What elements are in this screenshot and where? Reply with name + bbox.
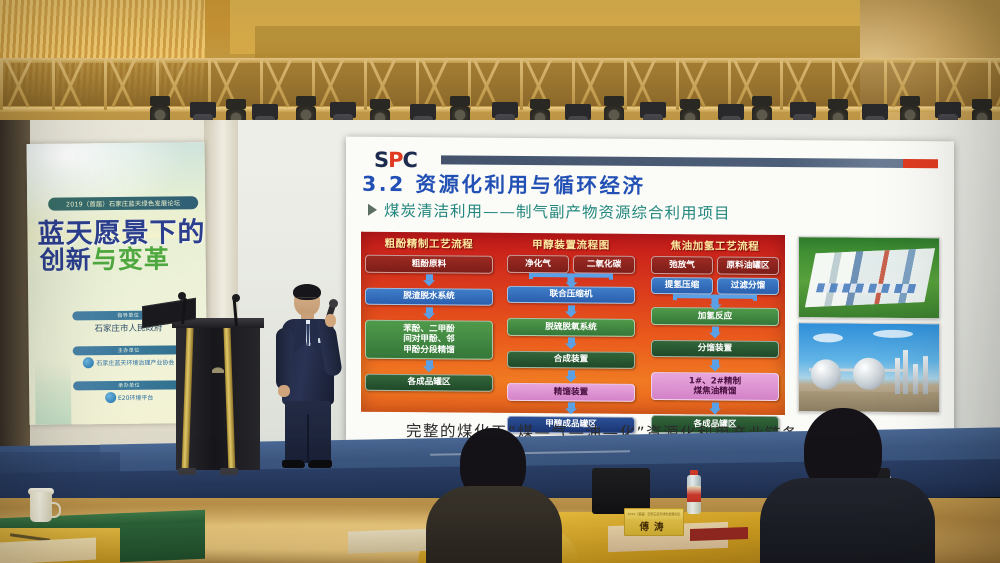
banner-title-line2: 创新与变革 bbox=[40, 239, 208, 277]
flow-arrow-icon bbox=[423, 360, 436, 372]
flow-arrow-icon bbox=[565, 305, 578, 317]
banner-title-line2-b: 与变革 bbox=[92, 244, 170, 274]
banner-org-1-role: 主办单位 bbox=[118, 347, 140, 354]
e20-logo-icon bbox=[105, 392, 116, 403]
aerial-plant-photo bbox=[798, 236, 940, 319]
tea-cup bbox=[30, 492, 56, 526]
mic-stand-base-right bbox=[220, 468, 238, 475]
flow-1-node-2: 合成装置 bbox=[507, 350, 635, 369]
flow-2-pair2-1: 过滤分馏 bbox=[717, 277, 779, 295]
flow-arrow-icon bbox=[565, 337, 578, 349]
banner-org-2-name: E20环境平台 bbox=[118, 393, 154, 402]
conference-photo-scene: /*truss members drawn below*/ 2019（首届）石家… bbox=[0, 0, 1000, 563]
flow-1-pair-1: 二氧化碳 bbox=[573, 255, 635, 273]
red-folder bbox=[690, 527, 748, 541]
flowchart-panel: 粗酚精制工艺流程粗酚原料脱渣脱水系统苯酚、二甲酚间对甲酚、邻甲酚分段精馏各成品罐… bbox=[361, 232, 785, 415]
banner-title-line2-a: 创新 bbox=[40, 245, 92, 275]
flow-arrow-icon bbox=[565, 402, 578, 414]
flow-1-node-1: 脱硫脱氧系统 bbox=[507, 318, 635, 337]
slide-title: 3.2 资源化利用与循环经济 bbox=[362, 167, 645, 199]
flowchart-1: 甲醇装置流程图净化气二氧化碳联合压缩机脱硫脱氧系统合成装置精馏装置甲醇成品罐区 bbox=[507, 237, 635, 434]
name-card-name: 傅涛 bbox=[639, 519, 668, 535]
wall-dark-edge bbox=[0, 120, 30, 450]
bullet-triangle-icon bbox=[368, 204, 377, 216]
industrial-tanks-photo bbox=[798, 322, 940, 413]
banner-event-pill: 2019（首届）石家庄蓝天绿色发展论坛 bbox=[48, 196, 198, 211]
slide-bullet-text: 煤炭清洁利用——制气副产物资源综合利用项目 bbox=[384, 199, 731, 224]
speaker-glasses bbox=[297, 297, 316, 303]
flow-0-node-1: 脱渣脱水系统 bbox=[365, 287, 493, 306]
name-card: 2019（首届）石家庄蓝天绿色发展论坛 傅涛 bbox=[624, 508, 684, 536]
mic-stand-base-left bbox=[178, 468, 196, 475]
flow-0-node-2: 苯酚、二甲酚间对甲酚、邻甲酚分段精馏 bbox=[365, 320, 493, 360]
banner-org-2-role: 承办单位 bbox=[118, 382, 140, 389]
audience-person-right bbox=[760, 408, 935, 563]
flow-2-header: 焦油加氢工艺流程 bbox=[651, 238, 779, 254]
flow-arrow-icon bbox=[709, 402, 722, 414]
banner-event-line: 2019（首届）石家庄蓝天绿色发展论坛 bbox=[66, 198, 180, 208]
banner-org-2: 承办单位 E20环境平台 bbox=[73, 380, 185, 403]
flow-1-header: 甲醇装置流程图 bbox=[507, 237, 635, 253]
flowchart-0: 粗酚精制工艺流程粗酚原料脱渣脱水系统苯酚、二甲酚间对甲酚、邻甲酚分段精馏各成品罐… bbox=[365, 236, 493, 392]
flow-1-node-3: 精馏装置 bbox=[507, 383, 635, 402]
flow-0-node-0: 粗酚原料 bbox=[365, 255, 493, 274]
flowchart-2: 焦油加氢工艺流程弛放气原料油罐区提氢压缩过滤分馏加氢反应分馏装置1#、2#精制煤… bbox=[651, 238, 779, 434]
banner-org-0-role: 指导单位 bbox=[117, 312, 139, 319]
flow-arrow-icon bbox=[709, 359, 722, 371]
flow-arrow-icon bbox=[709, 326, 722, 338]
audience-person-left bbox=[418, 428, 568, 563]
flow-0-node-3: 各成品罐区 bbox=[365, 373, 493, 392]
flow-merge-arrow-icon bbox=[651, 294, 779, 308]
slide-bullet: 煤炭清洁利用——制气副产物资源综合利用项目 bbox=[368, 199, 731, 224]
flow-arrow-icon bbox=[423, 307, 436, 319]
flow-merge-arrow-icon bbox=[507, 272, 635, 286]
flow-1-pair-0: 净化气 bbox=[507, 255, 569, 273]
banner-org-1: 主办单位 石家庄蓝天环境治理产业协会 bbox=[73, 345, 185, 368]
flow-arrow-icon bbox=[565, 370, 578, 382]
flow-2-node-1: 分馏装置 bbox=[651, 340, 779, 359]
speaker-person bbox=[272, 286, 340, 472]
papers-left bbox=[0, 537, 96, 563]
banner-tower-graphic bbox=[35, 350, 72, 424]
flow-arrow-icon bbox=[423, 274, 436, 286]
projection-screen: SPC 3.2 资源化利用与循环经济 煤炭清洁利用——制气副产物资源综合利用项目… bbox=[346, 137, 954, 447]
banner-org-1-name: 石家庄蓝天环境治理产业协会 bbox=[96, 357, 174, 367]
association-logo-icon bbox=[83, 357, 94, 368]
flow-2-pair-0: 弛放气 bbox=[651, 256, 713, 274]
name-card-header: 2019（首届）石家庄蓝天绿色发展论坛 bbox=[625, 510, 683, 519]
flow-2-node-2: 1#、2#精制煤焦油精馏 bbox=[651, 372, 779, 401]
logo-bar bbox=[441, 155, 938, 168]
flow-2-pair-1: 原料油罐区 bbox=[717, 257, 779, 275]
flow-0-header: 粗酚精制工艺流程 bbox=[365, 236, 493, 252]
flow-2-pair2-0: 提氢压缩 bbox=[651, 277, 713, 295]
water-bottle-mid bbox=[686, 470, 702, 514]
